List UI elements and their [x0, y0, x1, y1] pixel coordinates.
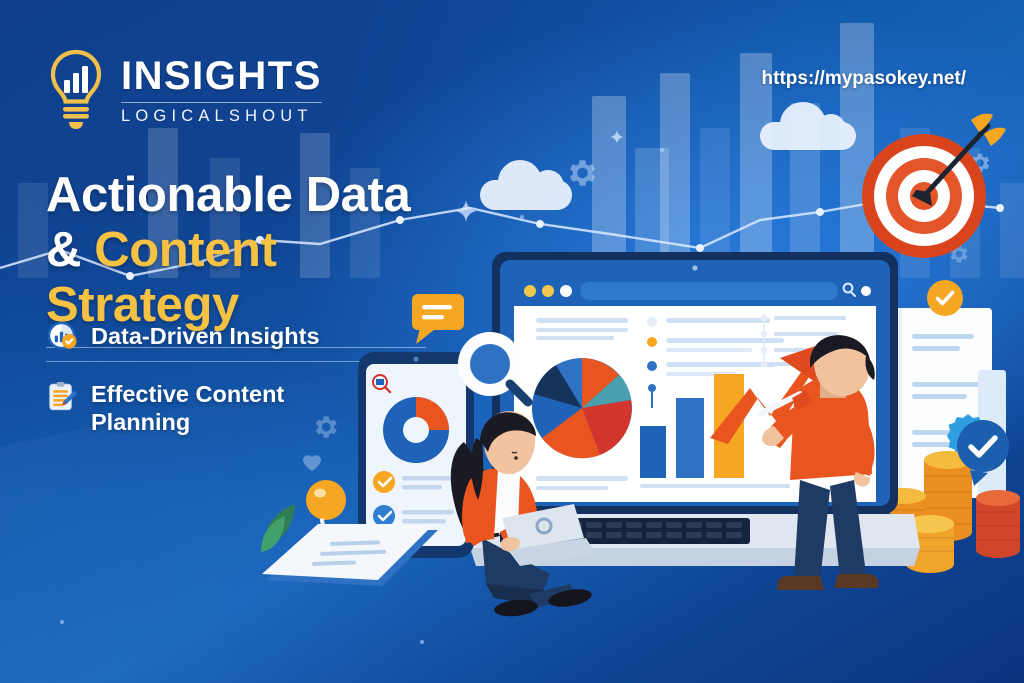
feature-list: Data-Driven Insights Effective Content P…	[46, 320, 376, 447]
clipboard-pencil-icon	[46, 378, 77, 414]
feature-label-1: Data-Driven Insights	[91, 320, 320, 351]
man-pointing-at-chart	[758, 330, 908, 620]
check-badge-orange	[925, 278, 965, 318]
dot-sparkle-1	[520, 215, 524, 219]
browser-menu-dot-icon	[861, 286, 871, 296]
bg-bar-1	[18, 183, 48, 278]
headline-highlight: Content Strategy	[46, 223, 277, 332]
dot-sparkle-5	[420, 640, 424, 644]
headline-line-2: & Content Strategy	[46, 223, 466, 333]
browser-address-bar	[580, 282, 838, 300]
brand-divider	[121, 102, 322, 104]
brand-tagline: LOGICALSHOUT	[121, 108, 322, 125]
chat-bubble-icon	[410, 292, 470, 350]
feature-divider	[46, 361, 368, 362]
cloud-icon-2	[760, 122, 856, 150]
feature-item-data-driven-insights[interactable]: Data-Driven Insights	[46, 320, 376, 351]
check-badge-bubble	[952, 418, 1014, 488]
gear-icon-1	[563, 155, 599, 191]
feature-item-effective-content-planning[interactable]: Effective Content Planning	[46, 378, 376, 436]
paper-stack	[256, 518, 446, 598]
browser-dot-3	[560, 285, 572, 297]
dot-sparkle-4	[60, 620, 64, 624]
feature-label-2: Effective Content Planning	[91, 378, 376, 436]
brand-name: INSIGHTS	[121, 56, 322, 96]
headline-ampersand: &	[46, 223, 81, 277]
headline-line-1: Actionable Data	[46, 168, 466, 223]
analytics-gauge-icon	[46, 320, 77, 351]
heart-icon	[300, 450, 324, 474]
brand-logo[interactable]: INSIGHTS LOGICALSHOUT	[45, 47, 322, 133]
cloud-icon-1	[480, 180, 572, 210]
browser-dot-1	[524, 285, 536, 297]
browser-dot-2	[542, 285, 554, 297]
site-url[interactable]: https://mypasokey.net/	[762, 68, 966, 90]
woman-with-laptop	[424, 398, 614, 628]
sparkle-icon-2	[610, 130, 624, 144]
promo-banner: INSIGHTS LOGICALSHOUT https://mypasokey.…	[0, 0, 1024, 683]
lightbulb-bar-chart-icon	[45, 47, 107, 133]
dot-sparkle-2	[660, 148, 664, 152]
coin-stack-red	[976, 490, 1020, 558]
